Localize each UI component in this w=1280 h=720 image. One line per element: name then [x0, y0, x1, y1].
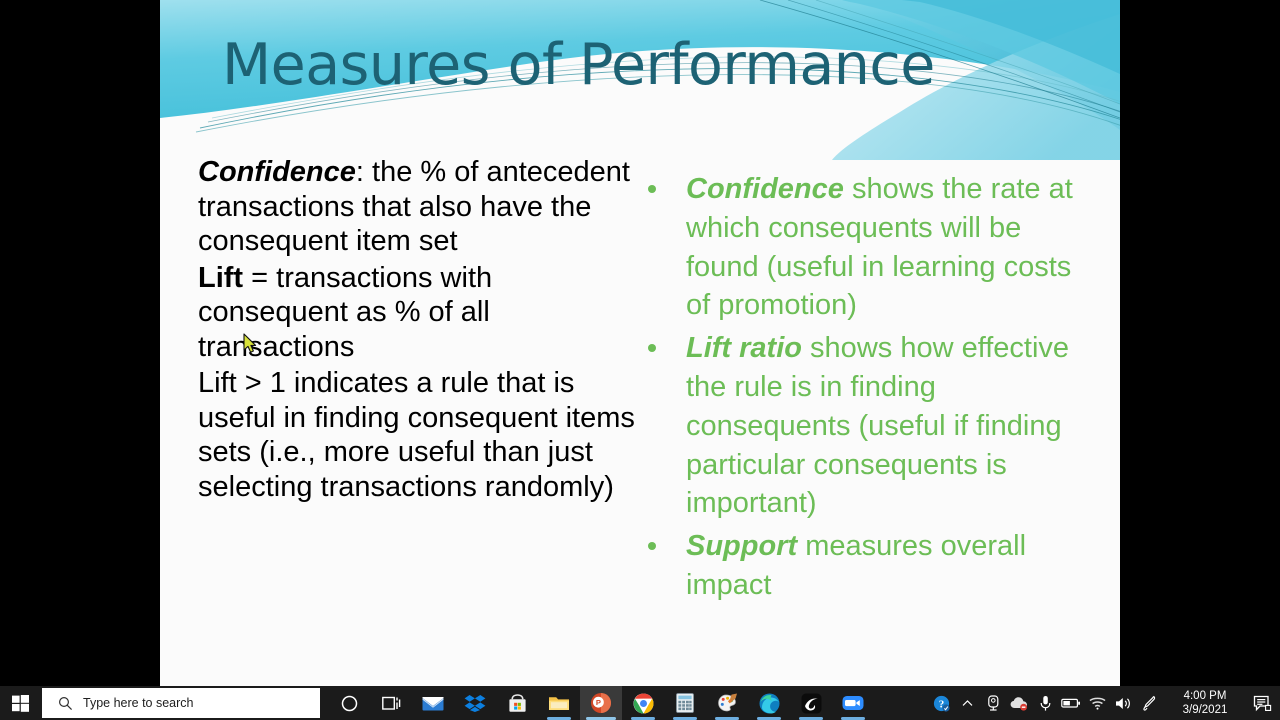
question-circle-icon: ? — [933, 695, 950, 712]
clock-time: 4:00 PM — [1184, 689, 1227, 703]
pen-icon — [1142, 695, 1157, 711]
tray-network[interactable] — [1084, 696, 1110, 710]
taskbar[interactable]: Type here to search — [0, 686, 1280, 720]
calculator-icon — [676, 693, 694, 713]
bullet-dot-icon — [648, 344, 656, 352]
dropbox-icon — [464, 694, 486, 712]
term-lift: Lift — [198, 262, 243, 294]
wifi-icon — [1089, 696, 1106, 710]
taskbar-app-mail[interactable] — [412, 686, 454, 720]
system-tray[interactable]: ? — [928, 686, 1280, 720]
windows-logo-icon — [12, 695, 29, 712]
video-camera-icon — [842, 694, 864, 712]
microphone-icon — [1039, 695, 1052, 712]
list-item: Confidence shows the rate at which conse… — [640, 170, 1090, 325]
term-confidence: Confidence — [198, 156, 356, 188]
envelope-icon — [422, 695, 444, 712]
tray-pen[interactable] — [1136, 695, 1162, 711]
term-lift-ratio: Lift ratio — [686, 332, 802, 364]
screen: Measures of Performance Confidence: the … — [0, 0, 1280, 720]
task-view-icon — [382, 695, 401, 712]
paint-palette-icon — [717, 693, 738, 713]
list-item: Lift ratio shows how effective the rule … — [640, 329, 1090, 523]
bullet-dot-icon — [648, 542, 656, 550]
right-bullet-column[interactable]: Confidence shows the rate at which conse… — [640, 170, 1090, 605]
taskbar-app-calculator[interactable] — [664, 686, 706, 720]
taskbar-app-microsoft-store[interactable] — [496, 686, 538, 720]
paragraph-lift: Lift = transactions with consequent as %… — [198, 261, 638, 365]
taskbar-app-chrome[interactable] — [622, 686, 664, 720]
taskbar-app-quick-assist[interactable] — [790, 686, 832, 720]
folder-icon — [548, 694, 570, 712]
swoosh-icon — [801, 693, 822, 714]
notification-icon — [1253, 695, 1272, 712]
term-confidence: Confidence — [686, 173, 844, 205]
clock-date: 3/9/2021 — [1183, 703, 1228, 717]
tray-volume[interactable] — [1110, 696, 1136, 711]
taskbar-app-zoom[interactable] — [832, 686, 874, 720]
circle-icon — [341, 695, 358, 712]
taskbar-clock[interactable]: 4:00 PM 3/9/2021 — [1166, 689, 1244, 717]
taskbar-app-list[interactable]: P — [328, 686, 874, 720]
search-icon — [58, 696, 73, 711]
taskbar-app-paint[interactable] — [706, 686, 748, 720]
chevron-up-icon — [961, 697, 974, 710]
paragraph-lift-rest: = transactions with consequent as % of a… — [198, 262, 492, 363]
powerpoint-icon: P — [590, 692, 612, 714]
paragraph-lift-gt-one-text: Lift > 1 indicates a rule that is useful… — [198, 367, 635, 503]
action-center-button[interactable] — [1244, 695, 1280, 712]
webcam-icon — [986, 695, 1001, 711]
tray-show-hidden-icons[interactable] — [954, 697, 980, 710]
chrome-icon — [633, 693, 654, 714]
taskbar-app-task-view[interactable] — [370, 686, 412, 720]
powerpoint-slide[interactable]: Measures of Performance Confidence: the … — [160, 0, 1120, 686]
taskbar-app-cortana[interactable] — [328, 686, 370, 720]
tray-webcam[interactable] — [980, 695, 1006, 711]
svg-text:P: P — [596, 698, 601, 707]
taskbar-app-dropbox[interactable] — [454, 686, 496, 720]
cloud-error-icon — [1010, 696, 1029, 711]
search-placeholder: Type here to search — [83, 696, 193, 710]
store-bag-icon — [508, 694, 527, 713]
tray-help[interactable]: ? — [928, 695, 954, 712]
bullet-dot-icon — [648, 185, 656, 193]
slide-title: Measures of Performance — [222, 36, 1082, 94]
speaker-icon — [1115, 696, 1132, 711]
tray-microphone[interactable] — [1032, 695, 1058, 712]
search-input[interactable]: Type here to search — [42, 688, 320, 718]
taskbar-app-powerpoint[interactable]: P — [580, 686, 622, 720]
taskbar-app-file-explorer[interactable] — [538, 686, 580, 720]
tray-onedrive[interactable] — [1006, 696, 1032, 711]
left-text-column[interactable]: Confidence: the % of antecedent transact… — [198, 155, 638, 506]
list-item: Support measures overall impact — [640, 527, 1090, 605]
start-button[interactable] — [0, 686, 40, 720]
battery-icon — [1061, 697, 1081, 709]
paragraph-confidence: Confidence: the % of antecedent transact… — [198, 155, 638, 259]
term-support: Support — [686, 530, 797, 562]
paragraph-lift-gt-one: Lift > 1 indicates a rule that is useful… — [198, 366, 638, 504]
edge-icon — [759, 693, 780, 714]
tray-battery[interactable] — [1058, 697, 1084, 709]
taskbar-app-edge[interactable] — [748, 686, 790, 720]
